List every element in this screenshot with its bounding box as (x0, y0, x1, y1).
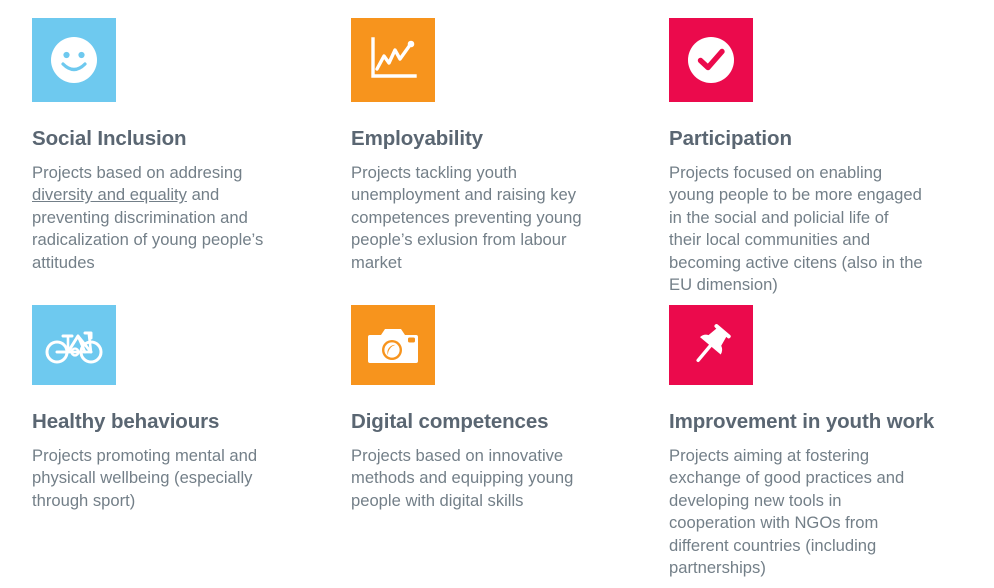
card-participation: Participation Projects focused on enabli… (669, 18, 961, 297)
card-title: Digital competences (351, 385, 651, 434)
bicycle-icon (45, 325, 103, 365)
push-pin-icon (686, 320, 736, 370)
bicycle-icon-tile (32, 305, 116, 385)
card-body-pre: Projects based on addresing (32, 163, 242, 182)
card-body-underlined: diversity and equality (32, 185, 187, 204)
card-title: Healthy behaviours (32, 385, 332, 434)
smiley-face-icon (48, 34, 100, 86)
card-improvement-in-youth-work: Improvement in youth work Projects aimin… (669, 305, 961, 580)
card-social-inclusion: Social Inclusion Projects based on addre… (32, 18, 332, 274)
check-circle-icon-tile (669, 18, 753, 102)
line-chart-icon-tile (351, 18, 435, 102)
card-body: Projects focused on enablingyoung people… (669, 151, 961, 297)
priorities-grid: Social Inclusion Projects based on addre… (0, 0, 994, 588)
card-body: Projects promoting mental andphysicall w… (32, 434, 332, 513)
card-employability: Employability Projects tackling youthune… (351, 18, 651, 274)
card-body: Projects aiming at fosteringexchange of … (669, 434, 961, 580)
card-body: Projects based on addresingdiversity and… (32, 151, 332, 275)
card-body: Projects tackling youthunemployment and … (351, 151, 651, 275)
card-title: Participation (669, 102, 961, 151)
push-pin-icon-tile (669, 305, 753, 385)
card-digital-competences: Digital competences Projects based on in… (351, 305, 651, 512)
line-chart-icon (368, 36, 418, 84)
card-body: Projects based on innovativemethods and … (351, 434, 651, 513)
check-circle-icon (685, 34, 737, 86)
camera-icon-tile (351, 305, 435, 385)
card-title: Improvement in youth work (669, 385, 961, 434)
camera-icon (367, 324, 419, 366)
card-title: Social Inclusion (32, 102, 332, 151)
smiley-face-icon-tile (32, 18, 116, 102)
card-healthy-behaviours: Healthy behaviours Projects promoting me… (32, 305, 332, 512)
card-title: Employability (351, 102, 651, 151)
